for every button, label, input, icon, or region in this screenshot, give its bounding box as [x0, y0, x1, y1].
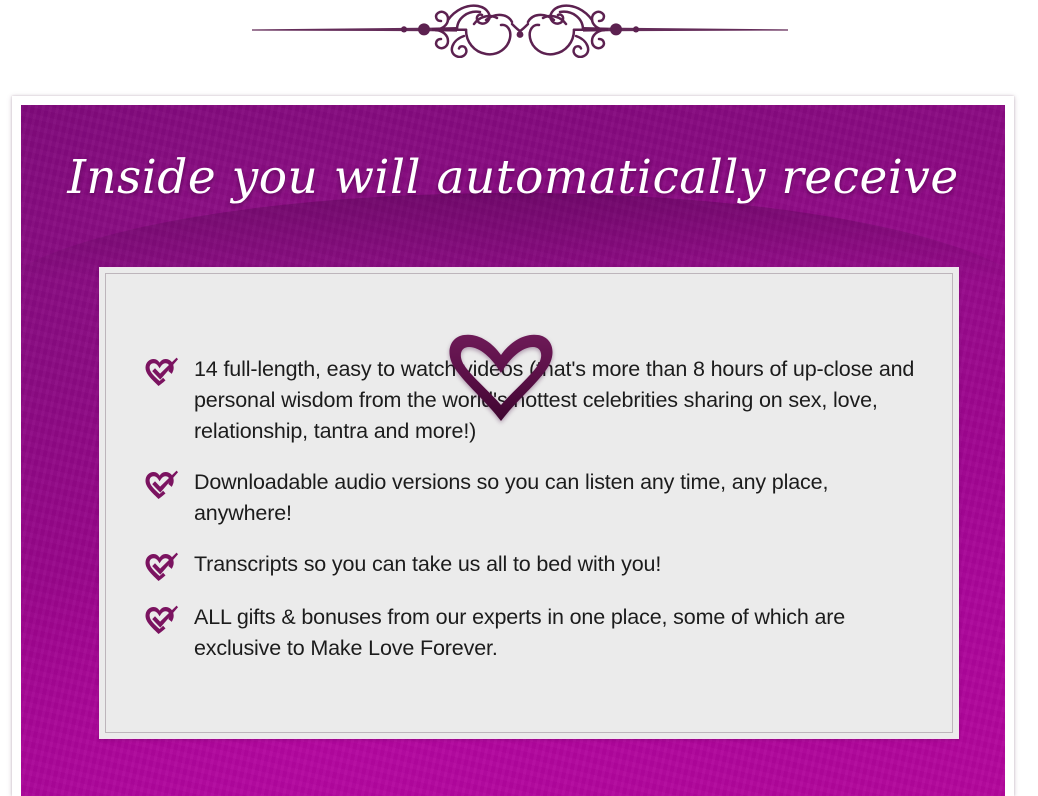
heart-outline-ornament-icon: [442, 333, 560, 425]
ornamental-flourish-divider-icon: [252, 2, 788, 58]
page-title: Inside you will automatically receive: [21, 153, 1005, 202]
list-item-text: Downloadable audio versions so you can l…: [194, 467, 922, 529]
promo-panel-background: Inside you will automatically receive: [21, 105, 1005, 796]
top-divider-region: [0, 0, 1038, 90]
list-item: Downloadable audio versions so you can l…: [144, 467, 922, 529]
heart-check-icon: [144, 357, 178, 387]
promo-panel-frame: Inside you will automatically receive: [12, 96, 1014, 796]
list-item-text: Transcripts so you can take us all to be…: [194, 549, 922, 580]
heart-check-icon: [144, 470, 178, 500]
list-item: Transcripts so you can take us all to be…: [144, 549, 922, 582]
list-item-text: ALL gifts & bonuses from our experts in …: [194, 602, 922, 664]
list-item: ALL gifts & bonuses from our experts in …: [144, 602, 922, 664]
heart-check-icon: [144, 552, 178, 582]
heart-check-icon: [144, 605, 178, 635]
